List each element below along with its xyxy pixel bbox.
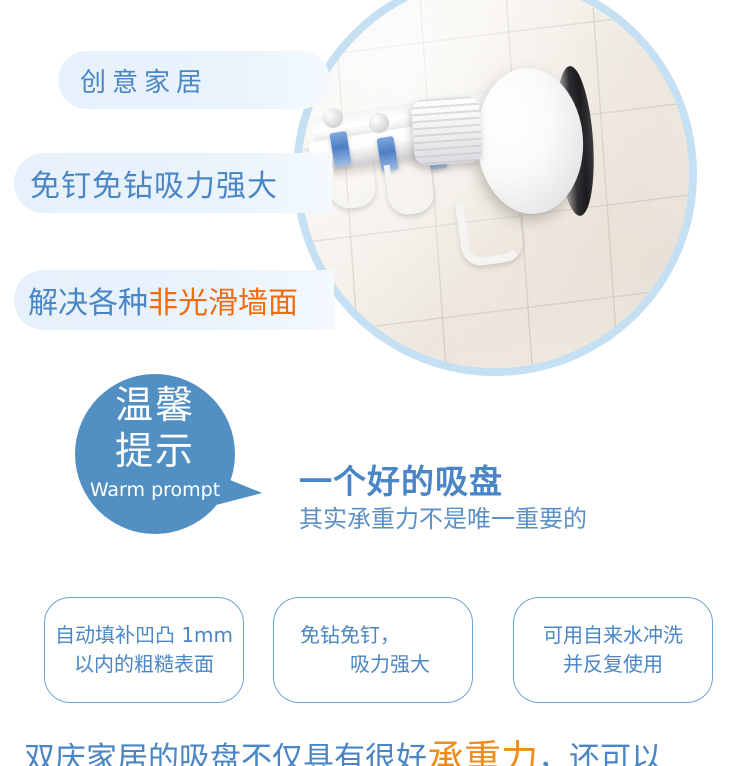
suction-lock-knob: [411, 96, 483, 167]
feature-box-3-line-2: 并反复使用: [563, 650, 663, 679]
feature-box-3-line-1: 可用自来水冲洗: [543, 621, 683, 650]
feature-box-1-line-2: 以内的粗糙表面: [74, 650, 214, 679]
feature-box-washable-reusable: 可用自来水冲洗 并反复使用: [513, 597, 713, 703]
banner-no-nail-no-drill: 免钉免钻吸力强大: [14, 153, 332, 213]
feature-box-2-line-2: 吸力强大: [274, 650, 472, 679]
bottom-tagline-highlight: 承重力: [427, 737, 538, 766]
banner-rough-wall-orange-part: 非光滑墙面: [148, 286, 298, 321]
feature-box-1-line-1: 自动填补凹凸 1mm: [55, 621, 233, 650]
product-photo: [301, 0, 689, 368]
feature-box-2-line-1: 免钻免钉，: [274, 621, 472, 650]
product-photo-circle: [293, 0, 697, 376]
warm-prompt-bubble: 温馨 提示 Warm prompt: [75, 374, 265, 544]
bubble-circle: 温馨 提示 Warm prompt: [75, 374, 235, 534]
bubble-line-3: Warm prompt: [75, 479, 235, 501]
headline-block: 一个好的吸盘 其实承重力不是唯一重要的: [299, 464, 587, 533]
headline-title: 一个好的吸盘: [299, 464, 587, 500]
product-detail-page: 创意家居 免钉免钻吸力强大 解决各种非光滑墙面 温馨 提示 Warm promp…: [0, 0, 750, 766]
feature-box-row: 自动填补凹凸 1mm 以内的粗糙表面 免钻免钉， 吸力强大 可用自来水冲洗 并反…: [0, 597, 750, 707]
banner-rough-wall: 解决各种非光滑墙面: [14, 270, 334, 330]
bottom-tagline-part-1: 双庆家居的吸盘不仅具有很好: [24, 741, 427, 766]
banner-rough-wall-blue-part: 解决各种: [28, 286, 148, 321]
banner-rough-wall-label: 解决各种非光滑墙面: [28, 278, 298, 322]
banner-no-nail-no-drill-label: 免钉免钻吸力强大: [30, 161, 278, 205]
bottom-tagline: 双庆家居的吸盘不仅具有很好承重力，还可以: [24, 728, 750, 766]
bottom-tagline-part-2: ，还可以: [538, 741, 662, 766]
headline-subtitle: 其实承重力不是唯一重要的: [299, 506, 587, 532]
banner-creative-home: 创意家居: [58, 51, 330, 109]
banner-creative-home-label: 创意家居: [80, 62, 208, 99]
bubble-line-2: 提示: [75, 432, 235, 472]
bubble-line-1: 温馨: [75, 386, 235, 426]
feature-box-fills-roughness: 自动填补凹凸 1mm 以内的粗糙表面: [44, 597, 244, 703]
feature-box-no-drill-no-nail: 免钻免钉， 吸力强大: [273, 597, 473, 703]
